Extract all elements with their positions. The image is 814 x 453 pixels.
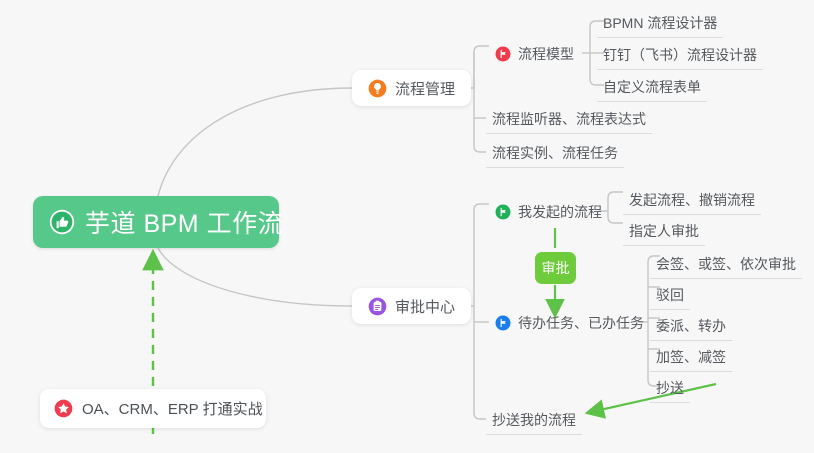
branch-approval-center[interactable]: 审批中心	[352, 288, 471, 324]
node-process-listener[interactable]: 流程监听器、流程表达式	[486, 104, 652, 134]
flag-icon	[495, 204, 511, 220]
node-custom-form[interactable]: 自定义流程表单	[597, 72, 707, 102]
link-root-to-process-management	[158, 88, 352, 196]
node-label: 会签、或签、依次审批	[656, 254, 796, 274]
node-label: 钉钉（飞书）流程设计器	[603, 45, 757, 65]
node-bpmn-designer[interactable]: BPMN 流程设计器	[597, 8, 723, 38]
approval-badge: 审批	[535, 252, 576, 284]
node-countersign[interactable]: 会签、或签、依次审批	[650, 249, 802, 279]
approval-badge-label: 审批	[542, 258, 570, 278]
thumbs-up-icon	[49, 209, 75, 235]
root-label: 芋道 BPM 工作流	[85, 204, 283, 240]
node-label: 自定义流程表单	[603, 77, 701, 97]
link-ac-to-my-started	[474, 204, 489, 210]
link-root-to-approval-center	[158, 248, 352, 306]
node-my-started-process[interactable]: 我发起的流程	[489, 197, 608, 227]
node-label: 抄送我的流程	[492, 410, 576, 430]
branch-process-management[interactable]: 流程管理	[352, 70, 471, 106]
node-assignee-approve[interactable]: 指定人审批	[623, 216, 705, 246]
node-label: 委派、转办	[656, 316, 726, 336]
node-label: 待办任务、已办任务	[518, 313, 644, 333]
flag-icon	[495, 315, 511, 331]
callout-integration[interactable]: OA、CRM、ERP 打通实战	[40, 389, 266, 428]
node-label: 指定人审批	[629, 221, 699, 241]
lightbulb-icon	[368, 79, 387, 98]
link-my-started-to-start-cancel	[608, 192, 623, 198]
node-add-remove-sign[interactable]: 加签、减签	[650, 342, 732, 372]
node-cc-my-process[interactable]: 抄送我的流程	[486, 405, 582, 435]
star-icon	[54, 399, 73, 418]
node-label: 抄送	[656, 378, 684, 398]
node-dingtalk-designer[interactable]: 钉钉（飞书）流程设计器	[597, 40, 763, 70]
clipboard-icon	[368, 297, 387, 316]
node-process-instance[interactable]: 流程实例、流程任务	[486, 138, 624, 168]
node-label: 加签、减签	[656, 347, 726, 367]
node-todo-done-task[interactable]: 待办任务、已办任务	[489, 308, 650, 338]
node-delegate-transfer[interactable]: 委派、转办	[650, 311, 732, 341]
node-label: 驳回	[656, 285, 684, 305]
node-carbon-copy[interactable]: 抄送	[650, 373, 690, 403]
mindmap-canvas: 芋道 BPM 工作流 流程管理 流程模型 BPMN 流程设计器 钉钉（飞书）流程…	[0, 0, 814, 453]
link-my-started-to-assignee	[608, 217, 623, 223]
node-process-model[interactable]: 流程模型	[489, 39, 580, 69]
node-label: 流程模型	[518, 44, 574, 64]
node-label: 流程监听器、流程表达式	[492, 109, 646, 129]
node-label: 流程实例、流程任务	[492, 143, 618, 163]
node-label: 发起流程、撤销流程	[629, 190, 755, 210]
node-label: 我发起的流程	[518, 202, 602, 222]
callout-label: OA、CRM、ERP 打通实战	[82, 398, 263, 419]
node-start-cancel[interactable]: 发起流程、撤销流程	[623, 185, 761, 215]
branch-label: 审批中心	[395, 296, 455, 317]
link-pm-to-model	[474, 46, 489, 52]
link-ac-to-cc-my	[474, 413, 486, 419]
root-node[interactable]: 芋道 BPM 工作流	[33, 196, 279, 248]
link-pm-to-instance	[474, 146, 486, 152]
flag-icon	[495, 46, 511, 62]
node-reject[interactable]: 驳回	[650, 280, 690, 310]
node-label: BPMN 流程设计器	[603, 13, 717, 33]
branch-label: 流程管理	[395, 78, 455, 99]
